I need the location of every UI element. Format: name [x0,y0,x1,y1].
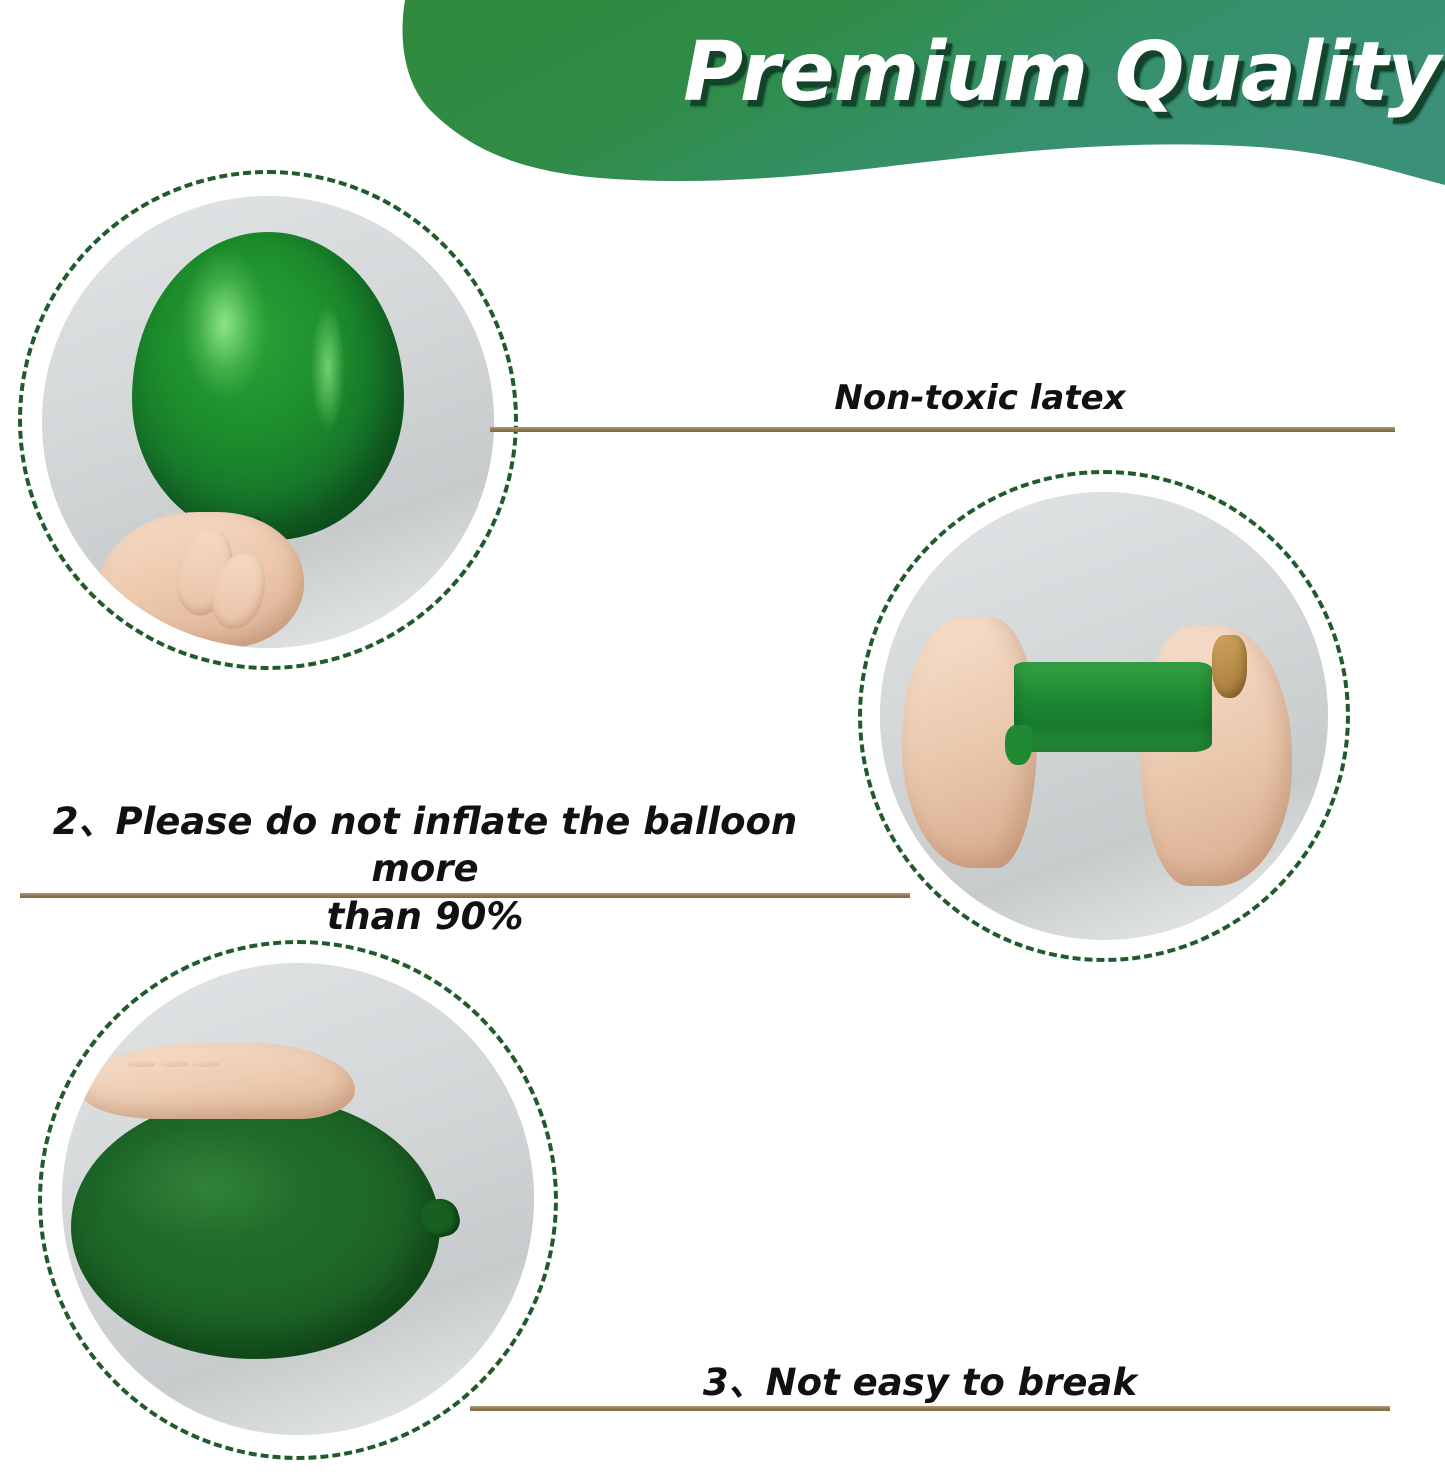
dashed-circle-frame-3 [38,940,558,1460]
product-infographic: Premium Quality Non-toxic latex 2、Please… [0,0,1445,1475]
feature-caption-not-easy-to-break: 3、Not easy to break [590,1352,1250,1406]
page-title: Premium Quality [620,30,1440,116]
dashed-circle-frame-2 [858,470,1350,962]
feature-caption-non-toxic-latex: Non-toxic latex [700,378,1260,418]
connector-line-3 [470,1406,1390,1411]
feature-caption-do-not-overinflate: 2、Please do not inflate the balloon more… [10,798,840,940]
connector-line-1 [490,427,1395,432]
dashed-circle-frame-1 [18,170,518,670]
